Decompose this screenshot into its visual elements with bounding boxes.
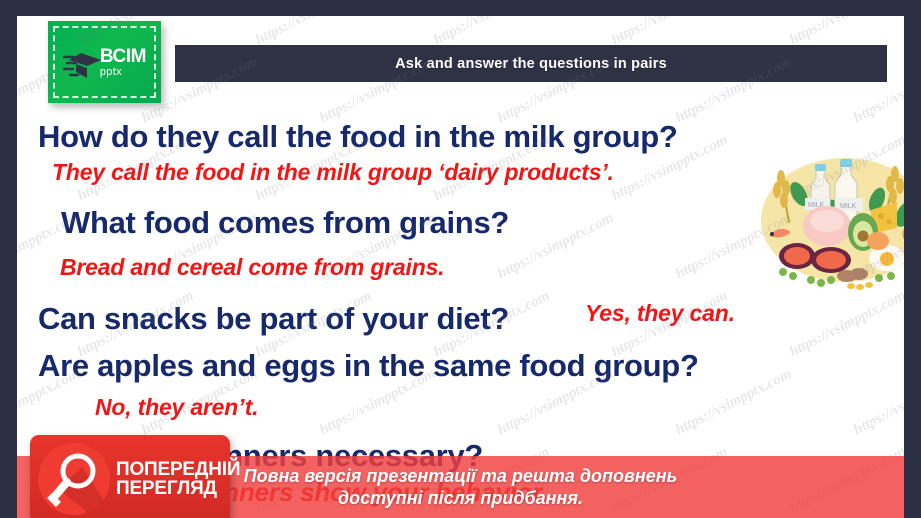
vsim-pptx-logo: ВСІМ pptx	[48, 21, 161, 103]
answer-3: Yes, they can.	[585, 302, 735, 325]
answer-4: No, they aren’t.	[95, 396, 258, 419]
question-4: Are apples and eggs in the same food gro…	[38, 350, 699, 381]
slide-canvas: Ask and answer the questions in pairs	[17, 16, 904, 518]
svg-text:MILK: MILK	[840, 203, 857, 210]
slide-header-title: Ask and answer the questions in pairs	[395, 56, 667, 72]
question-2: What food comes from grains?	[61, 207, 509, 238]
question-3: Can snacks be part of your diet?	[38, 303, 509, 334]
preview-label-line2: ПЕРЕГЛЯД	[116, 479, 240, 498]
magnifier-icon	[38, 443, 110, 515]
logo-sub-text: pptx	[100, 67, 122, 78]
watermark-text: https://vsimpptx.com	[787, 288, 904, 361]
watermark-text: https://vsimpptx.com	[495, 210, 617, 283]
graduation-cap-icon	[63, 47, 97, 77]
logo-main-text: ВСІМ	[100, 47, 146, 66]
purchase-banner-line2: доступні після придбання.	[338, 487, 583, 510]
food-groups-illustration: MILK MILK	[759, 128, 904, 298]
preview-label-line1: ПОПЕРЕДНІЙ	[116, 460, 240, 479]
preview-overlay-badge: ПОПЕРЕДНІЙ ПЕРЕГЛЯД	[30, 435, 230, 518]
answer-2: Bread and cereal come from grains.	[60, 256, 444, 279]
watermark-text: https://vsimpptx.com	[17, 288, 19, 361]
answer-1: They call the food in the milk group ‘da…	[52, 161, 614, 184]
question-1: How do they call the food in the milk gr…	[38, 121, 678, 152]
watermark-text: https://vsimpptx.com	[17, 16, 19, 49]
watermark-text: https://vsimpptx.com	[17, 132, 19, 205]
watermark-text: https://vsimpptx.com	[851, 366, 904, 439]
slide-header-bar: Ask and answer the questions in pairs	[175, 45, 887, 82]
purchase-banner-line1: Повна версія презентації та решта доповн…	[244, 465, 678, 488]
